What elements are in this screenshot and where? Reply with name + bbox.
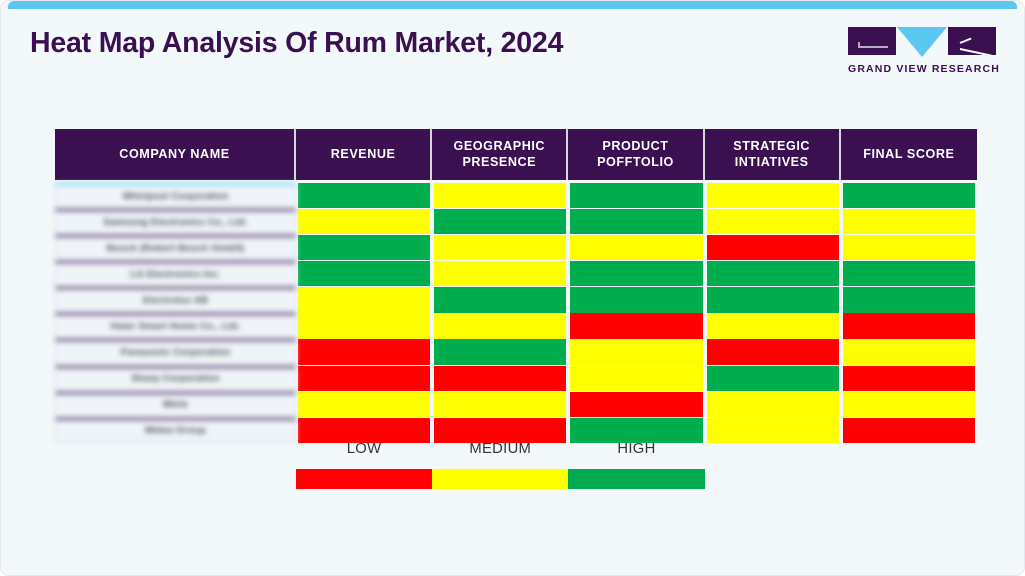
heatmap-cell-medium <box>434 392 566 417</box>
heatmap-cell-medium <box>843 392 975 417</box>
company-name-cell: Midea Group <box>55 418 296 443</box>
table-row: Miele <box>55 392 977 417</box>
table-row: Bosch (Robert Bosch GmbH) <box>55 235 977 260</box>
company-name-cell: Panasonic Corporation <box>55 339 296 364</box>
heatmap-cell-low <box>843 366 975 391</box>
logo-wordmark: GRAND VIEW RESEARCH <box>848 63 996 75</box>
legend-swatch-high <box>568 469 704 489</box>
heatmap-cell-low <box>434 418 566 443</box>
heatmap-cell-medium <box>434 183 566 208</box>
logo-triangle-icon <box>897 27 947 57</box>
logo-right-slash-secondary <box>960 38 972 44</box>
heatmap-cell-low <box>298 418 430 443</box>
company-name-cell: Samsung Electronics Co., Ltd. <box>55 209 296 234</box>
heatmap-cell-high <box>298 235 430 260</box>
heatmap-cell-high <box>434 339 566 364</box>
heatmap-cell-high <box>298 183 430 208</box>
heatmap-cell-high <box>298 261 430 286</box>
heatmap-legend: LOWMEDIUMHIGH <box>55 441 977 489</box>
table-header-row: COMPANY NAME REVENUE GEOGRAPHIC PRESENCE… <box>55 129 977 180</box>
company-name-cell: LG Electronics Inc. <box>55 261 296 286</box>
heatmap-cell-medium <box>707 183 839 208</box>
company-name-cell: Sharp Corporation <box>55 366 296 391</box>
logo-left-block-icon <box>848 27 896 55</box>
table-body: Whirlpool CorporationSamsung Electronics… <box>55 183 977 443</box>
heatmap-cell-medium <box>707 392 839 417</box>
heatmap-cell-high <box>843 183 975 208</box>
heatmap-cell-low <box>434 366 566 391</box>
table-row: Midea Group <box>55 418 977 443</box>
heatmap-cell-medium <box>707 209 839 234</box>
heatmap-cell-medium <box>843 209 975 234</box>
page-title: Heat Map Analysis Of Rum Market, 2024 <box>30 27 563 60</box>
legend-label-high: HIGH <box>568 441 704 457</box>
table-row: Electrolux AB <box>55 287 977 312</box>
heatmap-cell-medium <box>434 313 566 338</box>
heatmap-cell-low <box>570 392 702 417</box>
table-row: LG Electronics Inc. <box>55 261 977 286</box>
heatmap-cell-medium <box>434 261 566 286</box>
heatmap-cell-medium <box>843 339 975 364</box>
heatmap-cell-medium <box>570 235 702 260</box>
heatmap-cell-high <box>570 183 702 208</box>
heatmap-cell-medium <box>298 209 430 234</box>
heatmap-cell-high <box>707 287 839 312</box>
column-header-revenue: REVENUE <box>296 129 432 180</box>
company-name-cell: Whirlpool Corporation <box>55 183 296 208</box>
heatmap-cell-low <box>298 366 430 391</box>
logo-left-horizontal-tick <box>858 46 888 48</box>
heatmap-cell-high <box>843 261 975 286</box>
logo-right-slash <box>960 48 992 55</box>
company-name-cell: Electrolux AB <box>55 287 296 312</box>
table-row: Sharp Corporation <box>55 366 977 391</box>
heatmap-cell-low <box>843 418 975 443</box>
heatmap-cell-high <box>570 209 702 234</box>
heatmap-cell-medium <box>298 392 430 417</box>
heatmap-cell-high <box>707 366 839 391</box>
heatmap-cell-low <box>707 339 839 364</box>
logo-marks <box>848 27 996 57</box>
legend-color-bar <box>296 469 977 489</box>
company-name-cell: Haier Smart Home Co., Ltd. <box>55 313 296 338</box>
table-row: Samsung Electronics Co., Ltd. <box>55 209 977 234</box>
table-row: Whirlpool Corporation <box>55 183 977 208</box>
column-header-final-score: FINAL SCORE <box>841 129 977 180</box>
heatmap-cell-medium <box>570 339 702 364</box>
brand-logo: GRAND VIEW RESEARCH <box>848 27 996 75</box>
legend-swatch-medium <box>432 469 568 489</box>
top-accent-bar <box>8 1 1017 9</box>
legend-label-low: LOW <box>296 441 432 457</box>
heatmap-cell-low <box>843 313 975 338</box>
legend-swatch-low <box>296 469 432 489</box>
column-header-geographic-presence: GEOGRAPHIC PRESENCE <box>432 129 568 180</box>
heatmap-cell-low <box>570 313 702 338</box>
heatmap-cell-high <box>843 287 975 312</box>
heatmap-cell-medium <box>570 366 702 391</box>
heatmap-cell-high <box>570 261 702 286</box>
heatmap-cell-medium <box>707 418 839 443</box>
column-header-strategic-initiatives: STRATEGIC INTIATIVES <box>705 129 841 180</box>
heatmap-table: COMPANY NAME REVENUE GEOGRAPHIC PRESENCE… <box>55 129 977 444</box>
heatmap-cell-low <box>298 339 430 364</box>
legend-labels: LOWMEDIUMHIGH <box>296 441 977 457</box>
slide-header: Heat Map Analysis Of Rum Market, 2024 GR… <box>1 9 1024 93</box>
table-row: Panasonic Corporation <box>55 339 977 364</box>
heatmap-cell-medium <box>298 313 430 338</box>
legend-label-medium: MEDIUM <box>432 441 568 457</box>
column-header-company-name: COMPANY NAME <box>55 129 296 180</box>
heatmap-cell-medium <box>298 287 430 312</box>
company-name-cell: Miele <box>55 392 296 417</box>
slide-canvas: Heat Map Analysis Of Rum Market, 2024 GR… <box>0 0 1025 576</box>
heatmap-cell-high <box>434 287 566 312</box>
heatmap-cell-medium <box>707 313 839 338</box>
heatmap-cell-high <box>570 287 702 312</box>
company-name-cell: Bosch (Robert Bosch GmbH) <box>55 235 296 260</box>
heatmap-cell-high <box>434 209 566 234</box>
heatmap-cell-medium <box>434 235 566 260</box>
heatmap-cell-high <box>570 418 702 443</box>
table-row: Haier Smart Home Co., Ltd. <box>55 313 977 338</box>
heatmap-cell-medium <box>843 235 975 260</box>
heatmap-cell-high <box>707 261 839 286</box>
logo-right-block-icon <box>948 27 996 55</box>
heatmap-cell-low <box>707 235 839 260</box>
column-header-product-portfolio: PRODUCT POFFTOLIO <box>568 129 704 180</box>
